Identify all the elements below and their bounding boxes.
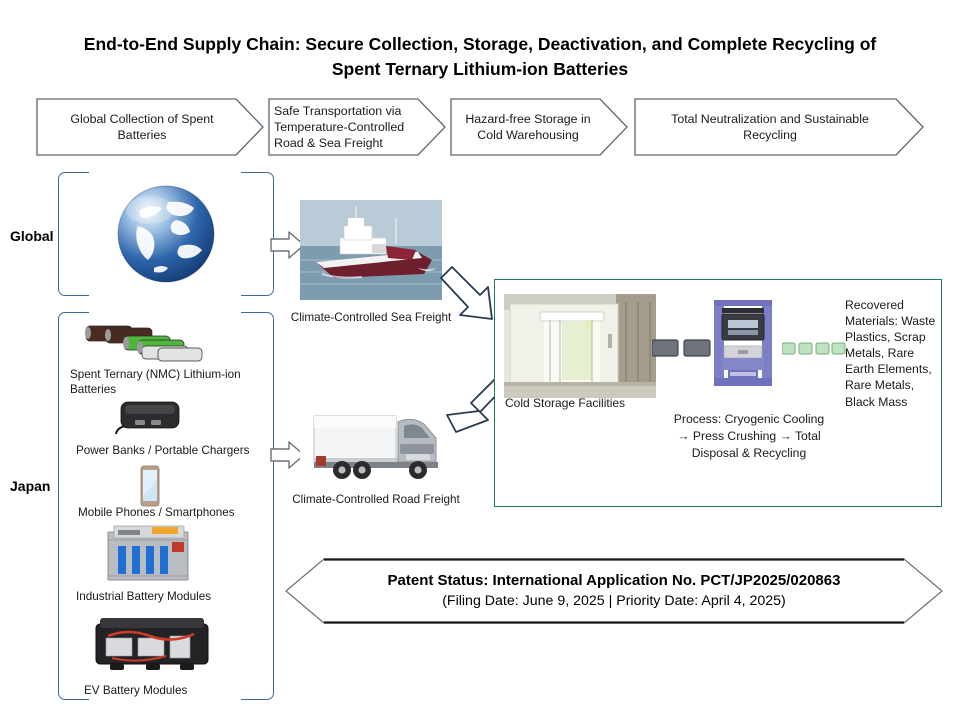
process-chevron-storage[interactable]: Hazard-free Storage in Cold Warehousing <box>450 98 628 156</box>
diagram-canvas: End-to-End Supply Chain: Secure Collecti… <box>0 0 960 720</box>
process-chevron-transportation[interactable]: Safe Transportation via Temperature-Cont… <box>268 98 446 156</box>
process-chevron-recycling[interactable]: Total Neutralization and Sustainable Rec… <box>634 98 924 156</box>
smartphone-icon <box>132 464 168 510</box>
cold-storage-caption: Cold Storage Facilities <box>505 396 675 411</box>
globe-icon <box>110 180 222 288</box>
cylindrical-battery-cells-icon <box>80 320 208 364</box>
freight-caption-road: Climate-Controlled Road Freight <box>286 492 466 507</box>
patent-line-1: Patent Status: International Application… <box>388 571 841 591</box>
source-caption-industrial: Industrial Battery Modules <box>76 590 276 605</box>
freight-caption-sea: Climate-Controlled Sea Freight <box>288 310 454 325</box>
page-title: End-to-End Supply Chain: Secure Collecti… <box>0 32 960 83</box>
process-chevron-label: Total Neutralization and Sustainable Rec… <box>648 98 892 156</box>
page-title-line-1: End-to-End Supply Chain: Secure Collecti… <box>0 32 960 57</box>
power-bank-icon <box>113 398 185 436</box>
process-chevron-label: Global Collection of Spent Batteries <box>46 98 238 156</box>
cold-storage-room-icon <box>504 294 656 398</box>
cargo-ship-icon <box>300 200 442 300</box>
ev-battery-pack-icon <box>92 614 212 676</box>
process-chevron-label: Hazard-free Storage in Cold Warehousing <box>458 98 598 156</box>
source-caption-powerbank: Power Banks / Portable Chargers <box>76 444 276 459</box>
patent-status-banner: Patent Status: International Application… <box>284 555 944 627</box>
source-caption-smartphone: Mobile Phones / Smartphones <box>78 506 278 521</box>
industrial-battery-module-icon <box>104 524 192 586</box>
source-caption-ev: EV Battery Modules <box>84 684 284 699</box>
refrigerated-truck-icon <box>300 400 458 490</box>
source-caption-batteries: Spent Ternary (NMC) Lithium-ion Batterie… <box>70 368 270 398</box>
recovered-materials-text: Recovered Materials: Waste Plastics, Scr… <box>845 297 943 410</box>
patent-line-2: (Filing Date: June 9, 2025 | Priority Da… <box>442 592 786 611</box>
process-chevron-collection[interactable]: Global Collection of Spent Batteries <box>36 98 264 156</box>
conveyor-output-blocks <box>782 340 846 358</box>
process-caption: Process: Cryogenic Cooling → Press Crush… <box>672 411 826 461</box>
conveyor-input-blocks <box>652 338 712 358</box>
page-title-line-2: Spent Ternary Lithium-ion Batteries <box>0 57 960 82</box>
process-chevron-label: Safe Transportation via Temperature-Cont… <box>274 98 416 156</box>
press-crusher-machine-icon <box>712 300 774 386</box>
arrow-sea-to-cold-storage <box>436 262 502 328</box>
